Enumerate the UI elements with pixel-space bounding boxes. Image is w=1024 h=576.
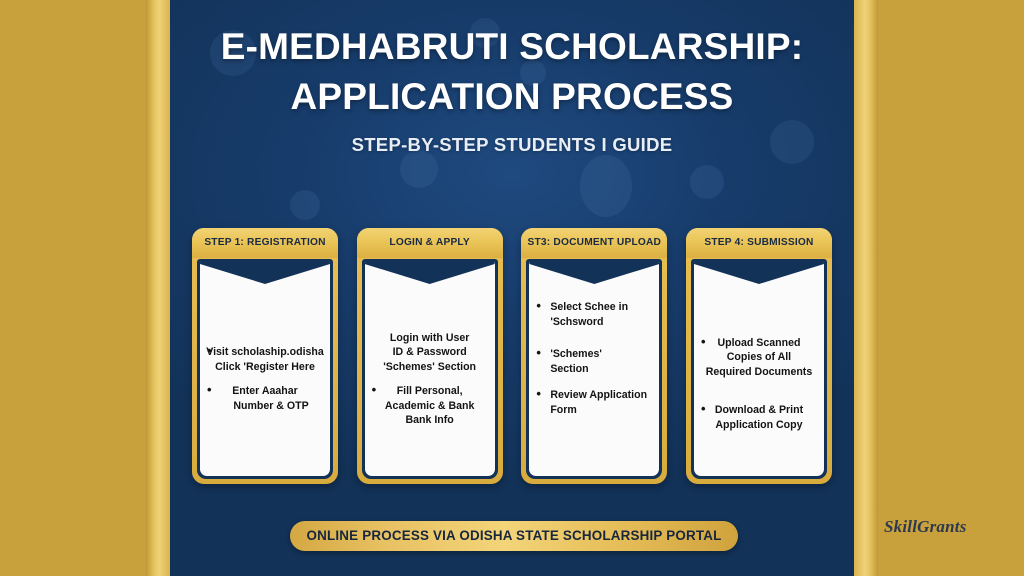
bullet-line: Copies of All	[699, 350, 819, 365]
bullet-line: Fill Personal,	[370, 384, 490, 399]
step-card-2-body: Login with User ID & Password 'Schemes' …	[365, 262, 495, 476]
bullet-line: ID & Password	[370, 345, 490, 360]
envelope-flap-icon	[529, 262, 659, 284]
bullet-line: 'Schemes'	[534, 347, 654, 362]
page-subtitle: STEP-BY-STEP STUDENTS I GUIDE	[170, 134, 854, 156]
step-card-3-header: ST3: DOCUMENT UPLOAD	[521, 228, 667, 258]
envelope-flap-icon	[365, 262, 495, 284]
bullet-line: Section	[534, 362, 654, 377]
envelope-flap-icon	[200, 262, 330, 284]
bullet-line: Academic & Bank	[370, 399, 490, 414]
step-card-4[interactable]: STEP 4: SUBMISSION Upload Scanned Copies…	[686, 228, 832, 484]
bullet-line: Bank Info	[370, 413, 490, 428]
bokeh-circle	[690, 165, 724, 199]
step-card-4-body: Upload Scanned Copies of All Required Do…	[694, 262, 824, 476]
bullet-line: 'Schemes' Section	[370, 360, 490, 375]
title-line-1: E-MEDHABRUTI SCHOLARSHIP:	[170, 22, 854, 72]
bullet-line: Application Copy	[699, 418, 819, 433]
step-card-4-content: Upload Scanned Copies of All Required Do…	[694, 288, 824, 470]
bullet-group: 'Schemes' Section	[534, 347, 654, 376]
bullet-group: Enter Aaahar Number & OTP	[205, 384, 325, 413]
page-title: E-MEDHABRUTI SCHOLARSHIP: APPLICATION PR…	[170, 22, 854, 122]
step-card-2[interactable]: LOGIN & APPLY Login with User ID & Passw…	[357, 228, 503, 484]
step-card-3-body-frame: Select Schee in 'Schsword 'Schemes' Sect…	[526, 259, 662, 479]
bullet-group: Review Application Form	[534, 388, 654, 417]
bullet-group: Fill Personal, Academic & Bank Bank Info	[370, 384, 490, 428]
brand-watermark: SkillGrants	[884, 517, 967, 537]
step-card-1[interactable]: STEP 1: REGISTRATION Visit scholaship.od…	[192, 228, 338, 484]
bullet-line: 'Schsword	[534, 315, 654, 330]
bullet-line: Click 'Register Here	[205, 360, 325, 375]
step-card-4-body-frame: Upload Scanned Copies of All Required Do…	[691, 259, 827, 479]
bullet-line: Visit scholaship.odisha	[205, 345, 325, 360]
step-card-row: STEP 1: REGISTRATION Visit scholaship.od…	[192, 228, 832, 484]
bullet-group: Upload Scanned Copies of All Required Do…	[699, 336, 819, 380]
navy-content-panel: E-MEDHABRUTI SCHOLARSHIP: APPLICATION PR…	[170, 0, 854, 576]
bokeh-circle	[580, 155, 632, 217]
bullet-line: Enter Aaahar	[205, 384, 325, 399]
step-card-2-content: Login with User ID & Password 'Schemes' …	[365, 288, 495, 470]
bottom-banner: ONLINE PROCESS VIA ODISHA STATE SCHOLARS…	[290, 521, 738, 551]
step-card-1-header: STEP 1: REGISTRATION	[192, 228, 338, 258]
step-card-2-header: LOGIN & APPLY	[357, 228, 503, 258]
bokeh-circle	[290, 190, 320, 220]
step-card-3-content: Select Schee in 'Schsword 'Schemes' Sect…	[529, 288, 659, 470]
bullet-line: Required Documents	[699, 365, 819, 380]
envelope-flap-icon	[694, 262, 824, 284]
bullet-group: Select Schee in 'Schsword	[534, 300, 654, 329]
gold-border-strip-right	[854, 0, 878, 576]
bullet-line: Review Application	[534, 388, 654, 403]
step-card-1-content: Visit scholaship.odisha Click 'Register …	[200, 288, 330, 470]
bullet-group: Download & Print Application Copy	[699, 403, 819, 432]
title-line-2: APPLICATION PROCESS	[170, 72, 854, 122]
step-card-4-header: STEP 4: SUBMISSION	[686, 228, 832, 258]
step-card-3-body: Select Schee in 'Schsword 'Schemes' Sect…	[529, 262, 659, 476]
bullet-line: Upload Scanned	[699, 336, 819, 351]
infographic-canvas: E-MEDHABRUTI SCHOLARSHIP: APPLICATION PR…	[0, 0, 1024, 576]
bullet-line: Login with User	[370, 331, 490, 346]
step-card-3[interactable]: ST3: DOCUMENT UPLOAD Select Schee in 'Sc…	[521, 228, 667, 484]
step-card-2-body-frame: Login with User ID & Password 'Schemes' …	[362, 259, 498, 479]
bullet-line: Download & Print	[699, 403, 819, 418]
bullet-group: Login with User ID & Password 'Schemes' …	[370, 331, 490, 375]
step-card-1-body: Visit scholaship.odisha Click 'Register …	[200, 262, 330, 476]
bullet-line: Form	[534, 403, 654, 418]
bullet-line: Number & OTP	[205, 399, 325, 414]
bullet-group: Visit scholaship.odisha Click 'Register …	[205, 345, 325, 374]
gold-border-strip-left	[146, 0, 170, 576]
bullet-line: Select Schee in	[534, 300, 654, 315]
step-card-1-body-frame: Visit scholaship.odisha Click 'Register …	[197, 259, 333, 479]
